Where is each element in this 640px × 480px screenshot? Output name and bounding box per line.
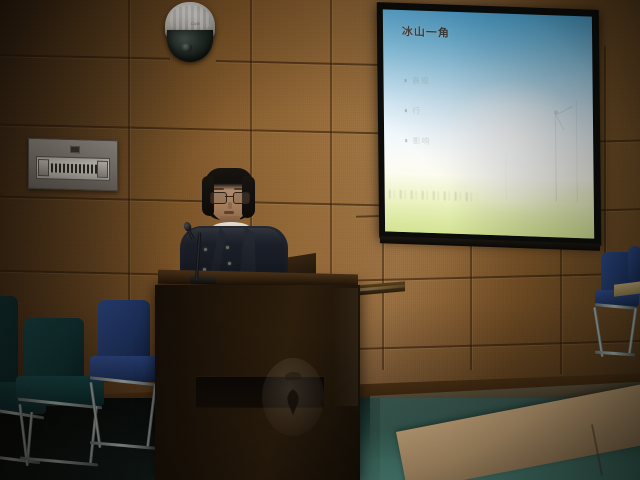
slide-title: 冰山一角 (402, 23, 450, 41)
photo-scene: 冰山一角 表现 行 影响 CAM (0, 0, 640, 480)
bullet-dot-icon (404, 79, 407, 82)
camera-brand-label: CAM (191, 22, 200, 26)
wind-turbine-icon (576, 100, 578, 202)
institution-emblem-icon (262, 358, 324, 436)
chair-leg (628, 308, 637, 356)
slide-surface: 冰山一角 表现 行 影响 (383, 9, 594, 238)
camera-lens-icon (181, 43, 192, 52)
wall-seam (128, 0, 130, 300)
panel-latch-left[interactable] (38, 159, 49, 176)
wind-turbine-icon (556, 114, 565, 129)
chair-back (628, 246, 640, 282)
chair-back (98, 300, 150, 362)
panel-latch-right[interactable] (97, 161, 108, 178)
chair-blue-far-right[interactable] (628, 246, 640, 306)
projection-screen[interactable]: 冰山一角 表现 行 影响 (377, 2, 602, 246)
jacket-button (204, 248, 207, 251)
emblem-cap (285, 371, 302, 380)
slide-bullet-list: 表现 行 影响 (404, 66, 551, 161)
slide-meadow (385, 174, 595, 239)
eyebrow-left (211, 188, 224, 190)
chair-leg (593, 307, 603, 357)
slide-bullet-text: 表现 (412, 75, 430, 87)
slide-bullet-text: 影响 (413, 135, 431, 147)
breaker-switches[interactable] (47, 163, 99, 174)
wall-seam (560, 248, 562, 374)
bullet-dot-icon (405, 109, 408, 112)
lens-right (233, 192, 250, 204)
wall-seam (470, 244, 472, 370)
mouth (224, 211, 234, 214)
chair-back (24, 318, 84, 382)
wall-seam (330, 0, 332, 288)
list-item: 影响 (405, 126, 552, 161)
dome-camera-icon: CAM (163, 2, 218, 64)
bullet-dot-icon (405, 139, 408, 142)
nose (228, 202, 232, 209)
eyeglasses-icon (209, 192, 250, 202)
microphone-base (190, 276, 216, 285)
chair-leg (20, 457, 98, 467)
podium-side-light (332, 288, 358, 406)
eyebrow-right (234, 188, 247, 190)
jacket-button (228, 262, 231, 265)
slide-bullet-text: 行 (412, 105, 421, 116)
panel-indicator-icon (70, 146, 80, 153)
chair-leg (89, 382, 101, 448)
jacket-button (226, 246, 229, 249)
lens-left (210, 192, 227, 204)
chair-leg (18, 404, 28, 464)
wind-turbine-icon (555, 113, 557, 202)
wall-seam (382, 240, 384, 370)
emblem-leaf (286, 389, 301, 415)
glasses-bridge (225, 196, 233, 197)
wind-turbine-icon (556, 106, 573, 115)
breaker-panel[interactable] (28, 138, 118, 192)
